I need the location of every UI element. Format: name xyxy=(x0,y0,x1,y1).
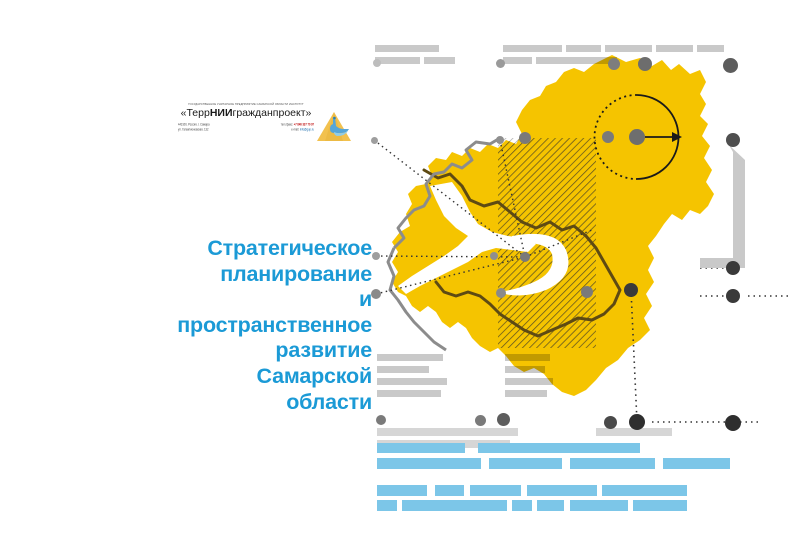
title-line-0: Стратегическое xyxy=(80,236,372,262)
gray-placeholder-bar xyxy=(424,57,455,64)
pyramid-swan-emblem-icon xyxy=(314,108,354,144)
gray-placeholder-bar xyxy=(505,390,547,397)
email-value: info@gup.ru xyxy=(300,128,314,132)
blue-placeholder-bar xyxy=(377,443,465,453)
poster-canvas: ГОСУДАРСТВЕННОЕ УНИТАРНОЕ ПРЕДПРИЯТИЕ СА… xyxy=(0,0,800,560)
node-dot xyxy=(581,286,593,298)
blue-placeholder-bar xyxy=(377,500,397,511)
blue-placeholder-bar xyxy=(602,485,687,496)
phone-value: +7 846 337 70 97 xyxy=(294,123,314,127)
node-dot xyxy=(496,59,505,68)
title-line-6: области xyxy=(80,390,372,416)
node-dot xyxy=(608,58,620,70)
gray-placeholder-bar xyxy=(375,57,420,64)
node-dot xyxy=(372,252,380,260)
logo-contacts: 443100, Россия, г. Самара ул. Галактионо… xyxy=(176,123,316,131)
page-title: Стратегическоепланированиеипространствен… xyxy=(80,236,372,415)
gray-placeholder-bar xyxy=(697,45,724,52)
gray-placeholder-bar xyxy=(505,378,553,385)
node-dot xyxy=(520,252,530,262)
node-dot xyxy=(723,58,738,73)
node-dot xyxy=(490,252,498,260)
logo-brand-name: «ТеррНИИгражданпроект» xyxy=(176,107,316,120)
logo-phone-email: тел./факс: +7 846 337 70 97 e-mail: info… xyxy=(281,123,314,134)
brand-prefix: «Терр xyxy=(181,107,210,119)
blue-placeholder-bar xyxy=(527,485,597,496)
gray-placeholder-bar xyxy=(656,45,693,52)
node-dot xyxy=(629,414,645,430)
gray-placeholder-bar xyxy=(377,354,443,361)
blue-placeholder-bar xyxy=(377,485,427,496)
title-line-3: пространственное xyxy=(80,313,372,339)
blue-placeholder-bar xyxy=(478,443,640,453)
gray-placeholder-bar xyxy=(566,45,601,52)
phone-label: тел./факс: xyxy=(281,123,293,127)
node-dot xyxy=(726,261,740,275)
title-line-2: и xyxy=(80,287,372,313)
node-dot xyxy=(638,57,652,71)
logo-address: 443100, Россия, г. Самара ул. Галактионо… xyxy=(178,123,210,134)
blue-placeholder-bar xyxy=(633,500,687,511)
blue-placeholder-bar xyxy=(377,458,481,469)
blue-placeholder-bar xyxy=(570,500,628,511)
blue-placeholder-bar xyxy=(402,500,507,511)
gray-placeholder-bar xyxy=(503,45,562,52)
blue-placeholder-bar xyxy=(663,458,730,469)
title-line-1: планирование xyxy=(80,262,372,288)
gray-placeholder-bar xyxy=(505,366,545,373)
node-dot xyxy=(726,133,740,147)
node-dot xyxy=(371,289,381,299)
brand-accent: НИИ xyxy=(210,107,233,119)
node-dot xyxy=(376,415,386,425)
gray-placeholder-bar xyxy=(605,45,652,52)
node-dot xyxy=(371,137,378,144)
gray-placeholder-bar xyxy=(377,378,447,385)
email-label: e-mail: xyxy=(291,128,299,132)
node-dot xyxy=(373,59,381,67)
node-dot xyxy=(725,415,741,431)
company-logo-block: ГОСУДАРСТВЕННОЕ УНИТАРНОЕ ПРЕДПРИЯТИЕ СА… xyxy=(176,100,316,145)
logo-organization-line: ГОСУДАРСТВЕННОЕ УНИТАРНОЕ ПРЕДПРИЯТИЕ СА… xyxy=(176,100,316,107)
gray-placeholder-bar xyxy=(377,366,429,373)
title-line-5: Самарской xyxy=(80,364,372,390)
node-dot xyxy=(497,413,510,426)
node-dot xyxy=(496,288,506,298)
node-dot xyxy=(726,289,740,303)
address-line-1: 443100, Россия, г. Самара xyxy=(178,123,210,127)
blue-placeholder-bar xyxy=(512,500,532,511)
blue-placeholder-bar xyxy=(489,458,562,469)
dotted-vertical-links xyxy=(631,268,790,422)
gray-placeholder-bar xyxy=(375,45,439,52)
brand-suffix: гражданпроект» xyxy=(233,107,312,119)
node-dot xyxy=(496,136,504,144)
blue-placeholder-bar xyxy=(470,485,521,496)
address-line-2: ул. Галактионовская, 132 xyxy=(178,128,208,132)
gray-placeholder-bar xyxy=(536,57,617,64)
node-dot xyxy=(604,416,617,429)
node-dot xyxy=(519,132,531,144)
title-line-4: развитие xyxy=(80,338,372,364)
gray-placeholder-bar xyxy=(503,57,532,64)
node-dot xyxy=(602,131,614,143)
node-dot xyxy=(475,415,486,426)
gray-placeholder-bar xyxy=(377,390,441,397)
gray-placeholder-bar xyxy=(377,428,518,436)
node-dot xyxy=(629,129,645,145)
blue-placeholder-bar xyxy=(570,458,655,469)
blue-placeholder-bar xyxy=(435,485,464,496)
node-dot xyxy=(624,283,638,297)
blue-placeholder-bar xyxy=(537,500,564,511)
gray-placeholder-bar xyxy=(505,354,550,361)
